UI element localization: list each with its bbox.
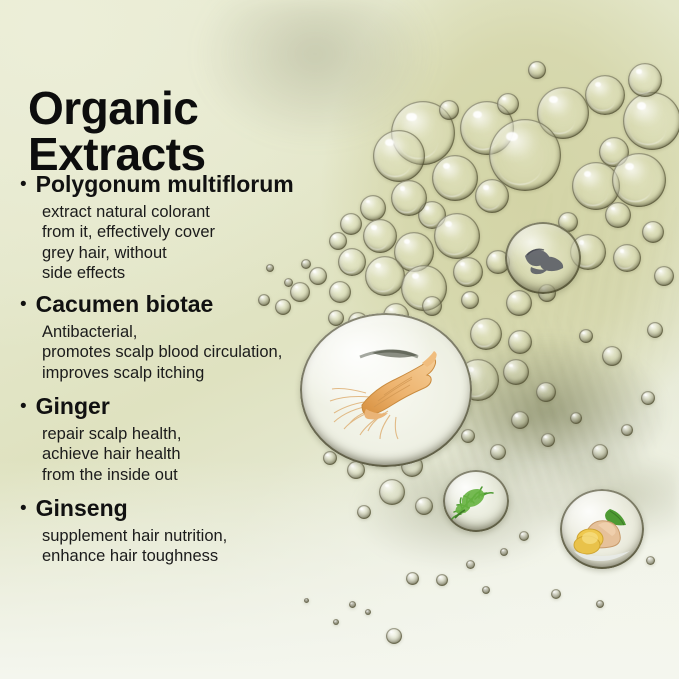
bubble	[329, 281, 351, 303]
product-infographic: Organic Extracts • Polygonum multiflorum…	[0, 0, 679, 679]
bubble-biota-sprig	[443, 470, 509, 532]
bubble-highlight	[659, 270, 662, 273]
bubble-highlight	[419, 500, 422, 502]
bubble	[432, 155, 478, 201]
bubble	[415, 497, 433, 515]
page-title: Organic Extracts	[28, 85, 330, 177]
bubble-highlight	[345, 253, 349, 257]
bubble-arc	[438, 184, 467, 197]
bubble-arc	[474, 338, 494, 347]
bubble-arc	[498, 165, 543, 185]
bullet-icon: •	[20, 397, 27, 416]
bubble	[536, 382, 556, 402]
bubble-highlight	[460, 262, 465, 266]
bubble-highlight	[595, 82, 601, 87]
bubble	[386, 628, 402, 644]
bubble	[436, 574, 448, 586]
bubble-arc	[578, 192, 608, 205]
bubble-highlight	[515, 414, 518, 416]
bubble-arc	[630, 129, 666, 145]
bubble-highlight	[521, 533, 523, 535]
section-title: Cacumen biotae	[36, 292, 214, 317]
bubble-highlight	[644, 394, 646, 396]
bubble-highlight	[468, 561, 470, 563]
extract-section-ginseng: • Ginseng supplement hair nutrition, enh…	[20, 496, 332, 567]
bubble	[579, 329, 593, 343]
bubble-arc	[632, 84, 653, 94]
bubble-highlight	[563, 216, 566, 219]
bubble-highlight	[345, 217, 349, 220]
bubble-highlight	[637, 102, 646, 110]
bubble-highlight	[596, 447, 599, 449]
bubble-highlight	[648, 557, 650, 559]
text-column: Organic Extracts • Polygonum multiflorum…	[0, 0, 330, 679]
bubble-highlight	[334, 285, 338, 288]
bubble-highlight	[404, 239, 410, 244]
bubble-arc	[370, 281, 395, 292]
bubble-highlight	[483, 185, 488, 189]
bubble	[365, 609, 371, 615]
bubble-highlight	[553, 591, 555, 593]
bubble-highlight	[444, 104, 447, 107]
bubble-highlight	[541, 386, 544, 389]
bubble-dark-herb-fragment	[505, 222, 581, 294]
bubble	[508, 330, 532, 354]
bubble-highlight	[406, 113, 416, 121]
bubble-highlight	[514, 334, 518, 337]
bubble	[528, 61, 546, 79]
extract-section-ginger: • Ginger repair scalp health, achieve ha…	[20, 394, 332, 485]
bubble	[642, 221, 664, 243]
bubble-arc	[341, 265, 358, 273]
bubble-highlight	[636, 69, 641, 73]
bubble	[570, 412, 582, 424]
bubble	[613, 244, 641, 272]
bubble-highlight	[611, 207, 615, 210]
bubble-highlight	[385, 139, 393, 146]
bubble-highlight	[445, 221, 452, 227]
bubble	[365, 256, 405, 296]
section-body: extract natural colorant from it, effect…	[42, 202, 332, 283]
bubble-highlight	[607, 350, 610, 353]
bubble-highlight	[573, 414, 575, 416]
bubble-highlight	[620, 249, 624, 253]
bubble	[466, 560, 475, 569]
bubble-highlight	[579, 240, 585, 245]
bubble	[612, 153, 666, 207]
section-heading-row: • Ginseng	[20, 496, 332, 521]
bubble-highlight	[412, 273, 419, 279]
dark-herb-icon	[505, 222, 581, 294]
bubble	[439, 100, 459, 120]
bubble-highlight	[532, 64, 535, 66]
bubble-highlight	[366, 610, 368, 612]
bubble	[333, 619, 339, 625]
extract-section-cacumen-biotae: • Cacumen biotae Antibacterial, promotes…	[20, 292, 332, 383]
bubble	[461, 291, 479, 309]
bubble-ginger-slices	[560, 489, 644, 569]
bubble-highlight	[598, 601, 600, 603]
bubble-arc	[479, 200, 500, 210]
bubble-highlight	[333, 235, 336, 237]
bubble	[621, 424, 633, 436]
section-title: Ginger	[36, 394, 110, 419]
bubble-highlight	[502, 549, 504, 551]
bubble-highlight	[385, 484, 389, 487]
bubble	[596, 600, 604, 608]
bubble-highlight	[334, 620, 336, 622]
bubble-highlight	[425, 206, 429, 210]
bubble	[453, 257, 483, 287]
biota-sprig-icon	[443, 470, 509, 532]
bubble-highlight	[390, 631, 393, 633]
section-title: Ginseng	[36, 496, 128, 521]
bubble-arc	[590, 100, 615, 111]
bubble	[628, 63, 662, 97]
section-body: Antibacterial, promotes scalp blood circ…	[42, 322, 332, 382]
bubble-highlight	[427, 300, 430, 303]
bubble-arc	[395, 202, 417, 212]
bubble-arc	[379, 163, 411, 178]
bubble	[482, 586, 490, 594]
bubble	[511, 411, 529, 429]
bubble	[461, 429, 475, 443]
section-body: repair scalp health, achieve hair health…	[42, 424, 332, 484]
bubble-highlight	[465, 294, 468, 296]
section-heading-row: • Cacumen biotae	[20, 292, 332, 317]
bubble-highlight	[478, 324, 483, 328]
bubble-highlight	[509, 364, 513, 367]
bubble	[503, 359, 529, 385]
bubble	[340, 213, 362, 235]
bubble-highlight	[473, 111, 482, 118]
bubble	[406, 572, 419, 585]
bubble	[475, 179, 509, 213]
bubble-highlight	[506, 132, 518, 141]
bubble-highlight	[375, 263, 381, 268]
bubble-highlight	[464, 432, 466, 434]
bubble-highlight	[366, 200, 370, 203]
section-body: supplement hair nutrition, enhance hair …	[42, 526, 332, 566]
section-title: Polygonum multiflorum	[36, 172, 294, 197]
bubble-highlight	[549, 96, 557, 103]
bubble	[602, 346, 622, 366]
extract-section-polygonum: • Polygonum multiflorum extract natural …	[20, 172, 332, 283]
bubble-highlight	[544, 436, 546, 438]
bubble	[646, 556, 655, 565]
bubble	[585, 75, 625, 115]
bubble-highlight	[360, 508, 362, 510]
bubble-highlight	[502, 97, 506, 100]
bubble	[551, 589, 561, 599]
bubble	[654, 266, 674, 286]
bubble	[519, 531, 529, 541]
section-heading-row: • Ginger	[20, 394, 332, 419]
bubble	[338, 248, 366, 276]
bubble-arc	[616, 261, 633, 269]
bubble-highlight	[494, 447, 497, 449]
bullet-icon: •	[20, 175, 27, 194]
bubble	[379, 479, 405, 505]
section-heading-row: • Polygonum multiflorum	[20, 172, 332, 197]
bubble-arc	[618, 187, 651, 202]
bubble-highlight	[624, 426, 626, 428]
bubble-highlight	[351, 464, 354, 466]
bubble-highlight	[484, 587, 486, 589]
bubble	[349, 601, 356, 608]
bubble	[647, 322, 663, 338]
bubble-highlight	[350, 602, 352, 604]
bubble-highlight	[651, 325, 654, 327]
bubble-highlight	[443, 163, 450, 169]
bubble-highlight	[625, 163, 634, 170]
bubble-highlight	[584, 171, 592, 177]
bubble	[497, 93, 519, 115]
bubble	[391, 180, 427, 216]
bubble	[434, 213, 480, 259]
bubble-highlight	[582, 332, 584, 334]
bubble	[363, 219, 397, 253]
bubble-highlight	[400, 186, 406, 191]
bubble	[490, 444, 506, 460]
bubble	[500, 548, 508, 556]
bubble-arc	[457, 276, 476, 285]
bubble-highlight	[389, 308, 393, 311]
bubble-highlight	[332, 313, 335, 315]
bubble	[360, 195, 386, 221]
bubble	[357, 505, 371, 519]
bubble-highlight	[492, 254, 496, 257]
bubble	[422, 296, 442, 316]
bubble-arc	[367, 240, 388, 250]
bubble	[605, 202, 631, 228]
bubble-highlight	[371, 225, 376, 229]
ginger-icon	[560, 489, 644, 569]
bubble-highlight	[439, 576, 441, 578]
bubble	[641, 391, 655, 405]
bubble-arc	[440, 242, 469, 255]
bubble	[506, 290, 532, 316]
bubble-highlight	[512, 295, 516, 298]
bubble	[373, 130, 425, 182]
bubble-highlight	[647, 225, 651, 228]
bubble	[470, 318, 502, 350]
bullet-icon: •	[20, 499, 27, 518]
bubble	[623, 92, 679, 150]
bubble	[592, 444, 608, 460]
bubble-highlight	[606, 142, 611, 146]
bubble-highlight	[409, 574, 411, 576]
bubble	[541, 433, 555, 447]
bullet-icon: •	[20, 295, 27, 314]
